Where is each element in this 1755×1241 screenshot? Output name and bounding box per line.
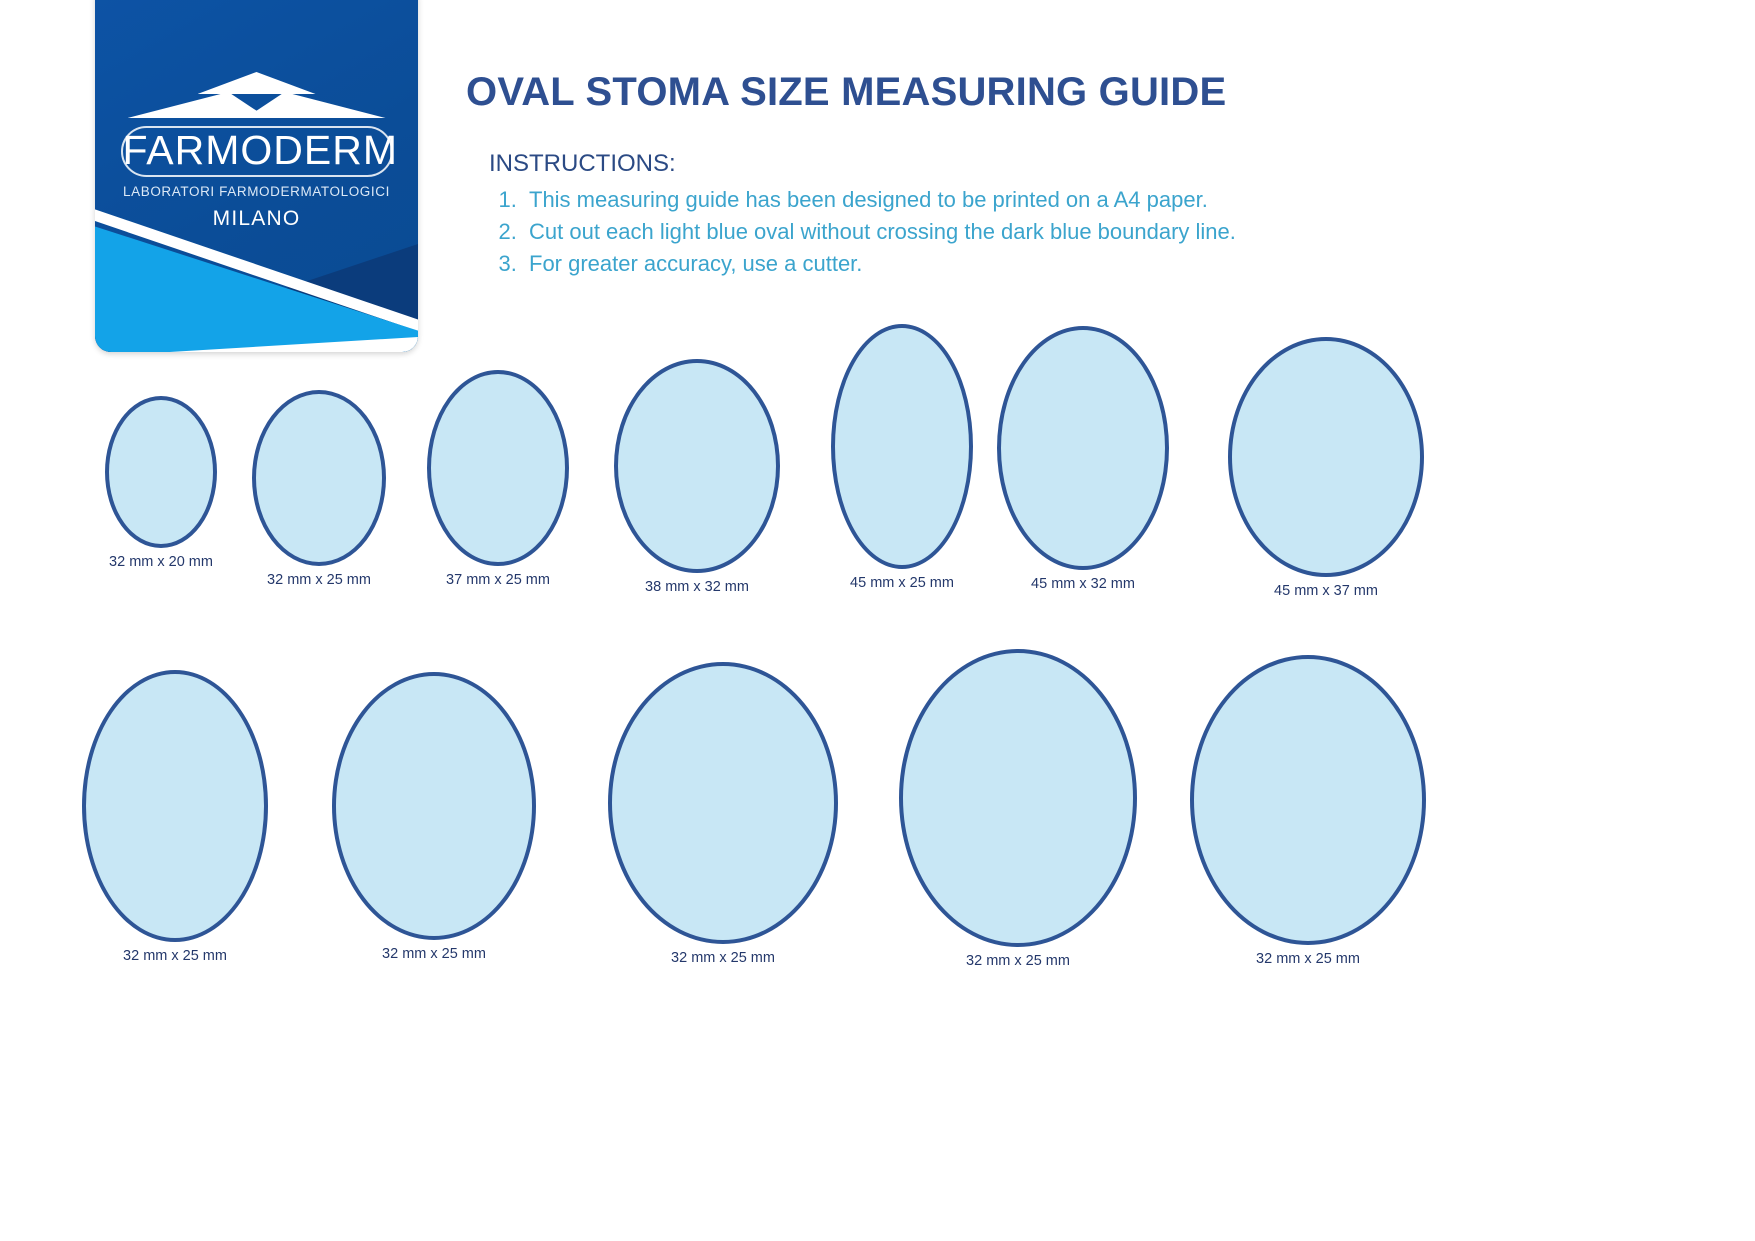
farmoderm-logo-panel: FARMODERM LABORATORI FARMODERMATOLOGICI … <box>95 0 418 352</box>
oval-size-label: 32 mm x 25 mm <box>859 953 1177 969</box>
stoma-oval[interactable] <box>252 390 386 566</box>
oval-size-label: 32 mm x 25 mm <box>42 948 308 964</box>
logo-mark: FARMODERM LABORATORI FARMODERMATOLOGICI … <box>95 72 418 231</box>
instruction-item: For greater accuracy, use a cutter. <box>523 248 1389 280</box>
oval-cell: 32 mm x 25 mm <box>859 649 1177 969</box>
page-title: OVAL STOMA SIZE MEASURING GUIDE <box>466 70 1226 115</box>
stoma-oval[interactable] <box>608 662 838 944</box>
logo-wordmark-box: FARMODERM <box>121 126 393 177</box>
oval-size-label: 45 mm x 37 mm <box>1188 583 1464 599</box>
stoma-oval[interactable] <box>899 649 1137 947</box>
stoma-oval[interactable] <box>614 359 780 573</box>
logo-city: MILANO <box>95 207 418 231</box>
logo-roof-icon <box>126 72 388 124</box>
oval-cell: 38 mm x 32 mm <box>574 359 820 595</box>
oval-size-label: 45 mm x 32 mm <box>957 576 1209 592</box>
logo-wordmark: FARMODERM <box>123 130 391 172</box>
roof-triangle-top <box>198 72 316 94</box>
oval-cell: 45 mm x 32 mm <box>957 326 1209 592</box>
instructions-heading: INSTRUCTIONS: <box>489 150 1389 178</box>
instructions-list: This measuring guide has been designed t… <box>489 184 1389 280</box>
oval-cell: 32 mm x 25 mm <box>1150 655 1466 967</box>
stoma-oval[interactable] <box>997 326 1169 570</box>
stoma-oval[interactable] <box>427 370 569 566</box>
instruction-item: Cut out each light blue oval without cro… <box>523 216 1389 248</box>
stoma-oval[interactable] <box>82 670 268 942</box>
roof-triangle-left <box>128 92 268 118</box>
stoma-oval[interactable] <box>1228 337 1424 577</box>
roof-triangle-right <box>246 92 386 118</box>
oval-size-label: 32 mm x 25 mm <box>292 946 576 962</box>
logo-subtitle: LABORATORI FARMODERMATOLOGICI <box>95 184 418 199</box>
stoma-oval[interactable] <box>332 672 536 940</box>
stoma-oval[interactable] <box>831 324 973 569</box>
oval-cell: 45 mm x 37 mm <box>1188 337 1464 599</box>
instructions-block: INSTRUCTIONS: This measuring guide has b… <box>489 150 1389 280</box>
instruction-item: This measuring guide has been designed t… <box>523 184 1389 216</box>
stoma-oval[interactable] <box>105 396 217 548</box>
oval-cell: 32 mm x 25 mm <box>292 672 576 962</box>
oval-size-label: 38 mm x 32 mm <box>574 579 820 595</box>
oval-cell: 32 mm x 25 mm <box>42 670 308 964</box>
oval-size-label: 32 mm x 25 mm <box>568 950 878 966</box>
oval-cell: 32 mm x 25 mm <box>568 662 878 966</box>
stoma-oval[interactable] <box>1190 655 1426 945</box>
oval-size-label: 32 mm x 25 mm <box>1150 951 1466 967</box>
